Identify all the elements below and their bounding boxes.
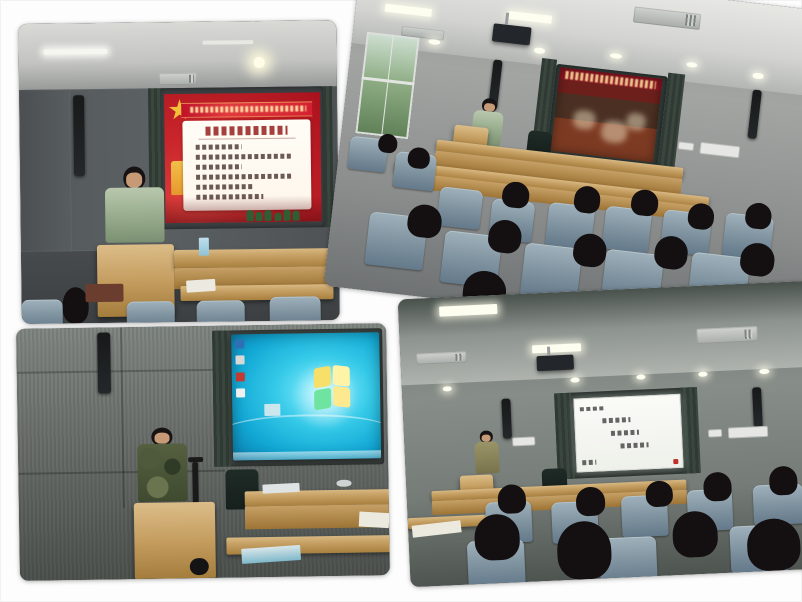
audience-head [645, 480, 673, 507]
slide-banner [181, 101, 312, 117]
audience-head [556, 520, 612, 580]
wall-switch [709, 430, 722, 436]
downlight [760, 369, 769, 374]
head-table [174, 248, 333, 268]
audience-chair [436, 186, 483, 230]
collage-canvas [0, 0, 802, 602]
audience-chair [127, 301, 175, 324]
photo-bottom-right-image [398, 281, 802, 587]
slide-crowd-graphic [165, 195, 321, 223]
audience-chair [270, 296, 321, 324]
desktop-icon-document[interactable] [236, 388, 245, 397]
photo-bottom-left-image [16, 323, 390, 581]
audience-chair [196, 300, 244, 324]
slide-line [196, 145, 242, 150]
microphone-icon [188, 457, 203, 462]
paper-sheet [263, 483, 300, 494]
slide-line [196, 165, 242, 170]
wall-speaker-icon [73, 95, 85, 176]
slide-line [196, 174, 291, 180]
slide-red-recruitment [164, 92, 321, 223]
paper-sheet [359, 512, 389, 529]
air-vent-icon [159, 73, 197, 85]
ceiling-projector [536, 355, 574, 371]
desktop-icon-pdf[interactable] [236, 372, 245, 381]
photo-top-left[interactable] [18, 20, 340, 324]
slide-line [611, 430, 639, 436]
wall-speaker-icon [501, 398, 512, 439]
presenter-uniform [475, 441, 500, 474]
slide-line [196, 154, 293, 160]
presenter-face [482, 434, 491, 441]
audience-head [702, 472, 732, 502]
presenter-student [474, 430, 501, 480]
windows-logo-icon [314, 365, 350, 408]
audience-head [768, 466, 798, 496]
notebook [85, 284, 123, 302]
presenter-camouflage-uniform [137, 443, 188, 502]
slide-line [602, 417, 630, 423]
audience-chair [22, 299, 64, 324]
slide-title-text [206, 126, 288, 135]
desktop-icon-folder[interactable] [236, 356, 245, 365]
photo-top-left-image [18, 20, 340, 324]
paper-sheet [186, 279, 215, 293]
slide-crowd-photo [551, 67, 663, 162]
slide-marker-dot [673, 459, 678, 464]
desktop-icon-selected[interactable] [264, 404, 280, 416]
slide-title-rule [198, 138, 295, 140]
presenter-face [127, 173, 143, 188]
photo-bottom-left[interactable] [16, 323, 390, 581]
slide-white-text [573, 393, 683, 473]
curtain-left [212, 331, 231, 467]
wallpaper-arc [231, 413, 381, 450]
slide-line [196, 184, 252, 189]
audience-head [497, 484, 527, 514]
desktop-icon-computer[interactable] [235, 339, 244, 348]
audience-head [575, 486, 605, 516]
wall-panel-left [19, 89, 72, 252]
wall-speaker-icon [98, 332, 112, 393]
water-bottle [199, 238, 209, 256]
microphone-stand [192, 462, 199, 507]
air-vent-icon [696, 326, 758, 343]
slide-line [620, 442, 648, 448]
presenter-face [155, 433, 170, 444]
wall-switch [513, 437, 534, 445]
computer-mouse [337, 480, 352, 487]
presenter-uniform [105, 187, 164, 244]
projector-screen-windows-desktop[interactable] [231, 332, 381, 460]
slide-line [583, 459, 597, 464]
slide-line [580, 406, 604, 412]
power-outlets [729, 427, 766, 437]
photo-bottom-right[interactable] [398, 281, 802, 587]
